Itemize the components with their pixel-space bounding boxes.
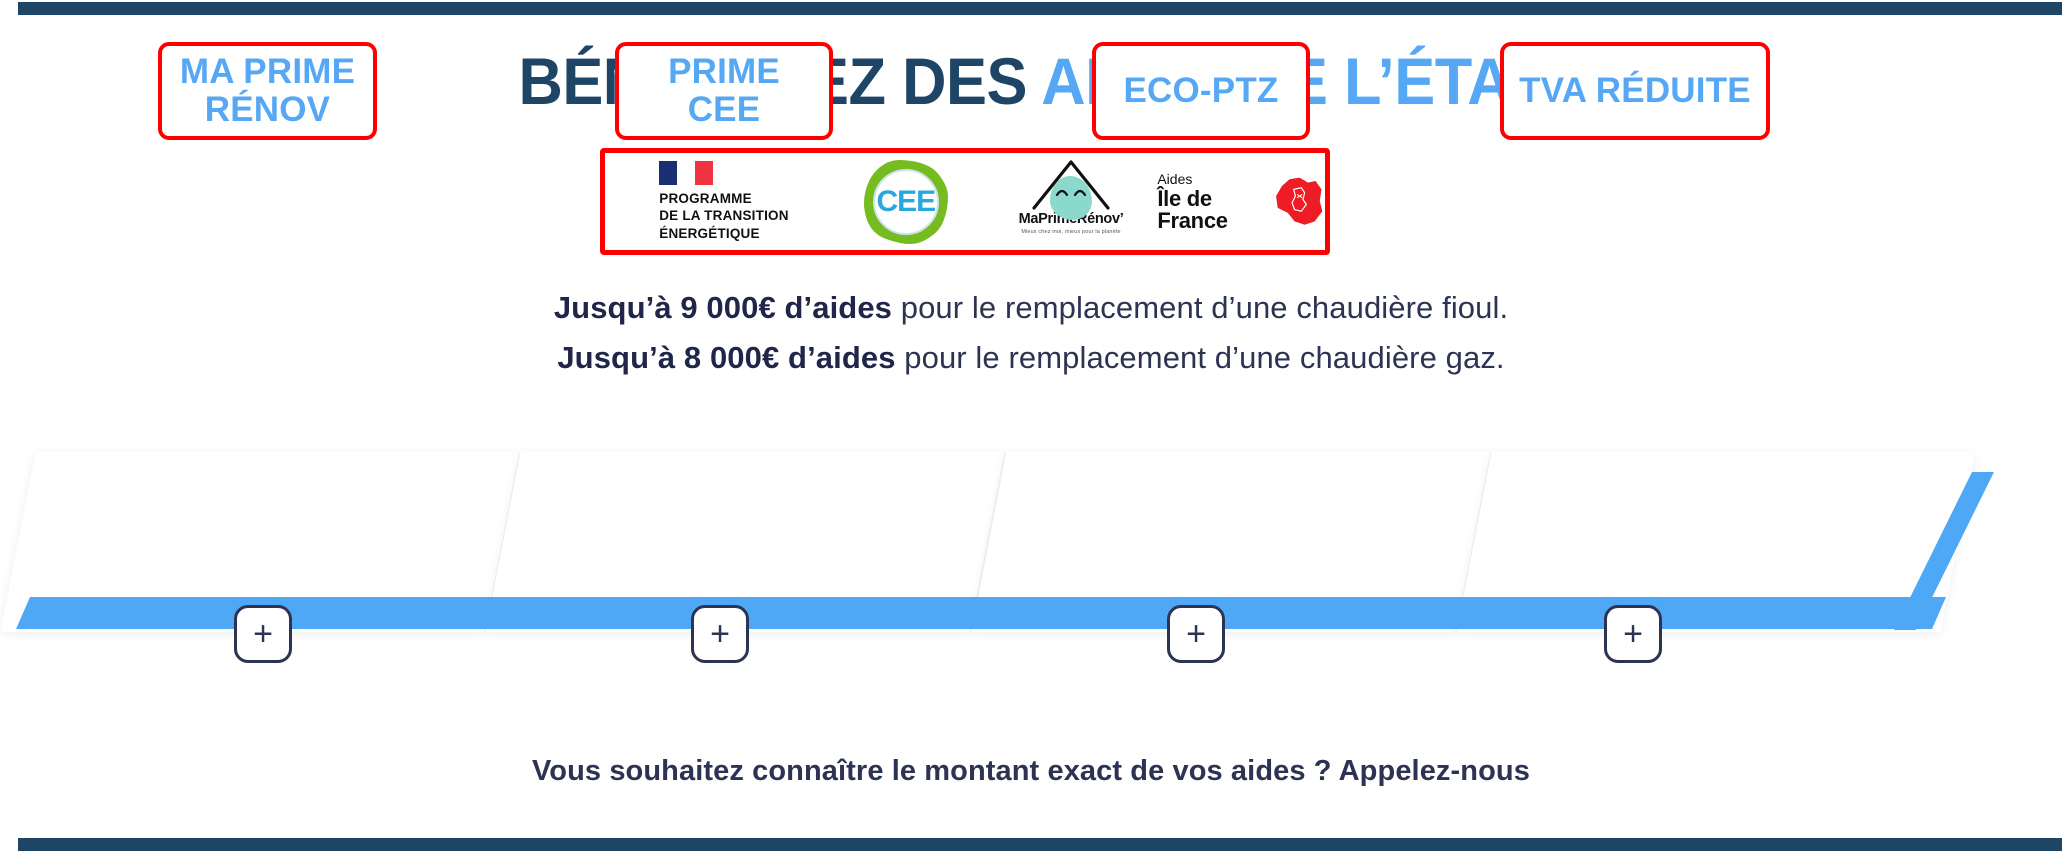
subtitle-gaz-amount: Jusqu’à 8 000€ d’aides (557, 340, 895, 375)
aid-card-label-line1: PRIME (668, 52, 780, 91)
aid-card-label-line1: TVA RÉDUITE (1519, 71, 1751, 110)
subtitle-line-fioul: Jusqu’à 9 000€ d’aides pour le remplacem… (0, 283, 2062, 333)
aid-card-label-line1: MA PRIME (180, 52, 355, 91)
aid-card-label-line2: CEE (688, 90, 761, 129)
maprimerenov-tagline: Mieux chez moi, mieux pour la planète (996, 229, 1146, 235)
subtitle-fioul-rest: pour le remplacement d’une chaudière fio… (892, 290, 1508, 325)
subtitle-line-gaz: Jusqu’à 8 000€ d’aides pour le remplacem… (0, 333, 2062, 383)
aid-card-eco-ptz[interactable]: ECO-PTZ (1092, 42, 1310, 140)
aid-card-label: PRIME CEE (668, 53, 780, 129)
aid-card-label-line2: RÉNOV (205, 90, 330, 129)
subtitle-fioul-amount: Jusqu’à 9 000€ d’aides (554, 290, 892, 325)
aid-card-ma-prime-renov[interactable]: MA PRIME RÉNOV (158, 42, 377, 140)
page-root: BÉNÉBICIEZ DES AIDES DE L’ÉTAT PROGRAMME… (0, 0, 2062, 854)
expand-button-eco-ptz[interactable]: + (1167, 605, 1225, 663)
expand-button-tva-reduite[interactable]: + (1604, 605, 1662, 663)
aid-card-label: ECO-PTZ (1123, 72, 1278, 110)
aid-amount-subtitles: Jusqu’à 9 000€ d’aides pour le remplacem… (0, 283, 2062, 383)
expand-button-ma-prime-renov[interactable]: + (234, 605, 292, 663)
subtitle-gaz-rest: pour le remplacement d’une chaudière gaz… (896, 340, 1505, 375)
aid-cards: MA PRIME RÉNOV PRIME CEE ECO-PTZ TVA RÉD… (0, 0, 2062, 220)
aid-card-label: TVA RÉDUITE (1519, 72, 1751, 110)
aid-card-tva-reduite[interactable]: TVA RÉDUITE (1500, 42, 1770, 140)
aid-card-prime-cee[interactable]: PRIME CEE (615, 42, 833, 140)
bottom-divider-bar (18, 838, 2062, 851)
aid-card-label: MA PRIME RÉNOV (180, 53, 355, 129)
expand-button-prime-cee[interactable]: + (691, 605, 749, 663)
contact-prompt: Vous souhaitez connaître le montant exac… (0, 755, 2062, 788)
pte-line3: ÉNERGÉTIQUE (659, 225, 788, 242)
aid-card-label-line1: ECO-PTZ (1123, 71, 1278, 110)
aid-ribbon-band (0, 440, 2062, 660)
